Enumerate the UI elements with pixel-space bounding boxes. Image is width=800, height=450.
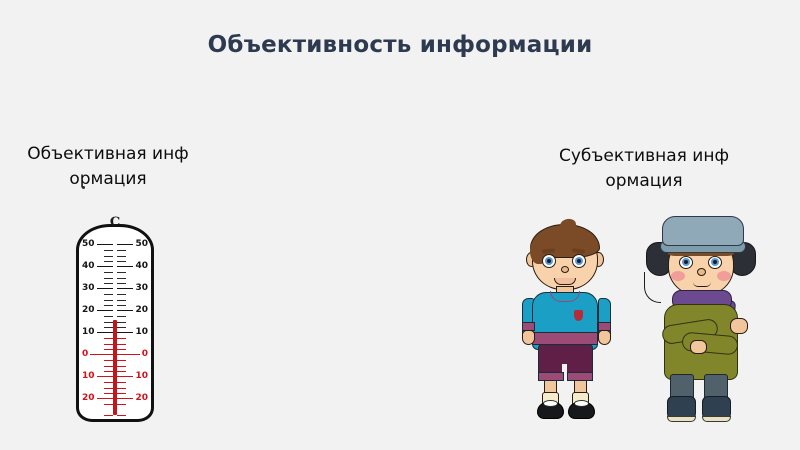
thermometer-tick: 10 (80, 326, 113, 338)
thermometer-minor-ticks (99, 404, 113, 416)
boy-shoelace-left-icon (543, 400, 558, 407)
thermometer-tick: 20 (80, 392, 113, 404)
caption-objective-information: Объективная информация (23, 142, 193, 192)
thermometer-mercury-column (113, 320, 117, 415)
bundled-mouth-icon (693, 282, 711, 287)
tick-line-icon (97, 376, 113, 377)
boy-shorts-hem-left-icon (538, 372, 564, 381)
boy-shoelace-right-icon (574, 400, 589, 407)
thermometer-tick-label: 10 (133, 372, 150, 381)
thermometer-unit-label: C (76, 215, 154, 230)
tick-line-icon (117, 244, 133, 245)
caption-subjective-information: Субъективная информация (556, 144, 732, 194)
thermometer-tick: 50 (117, 238, 150, 250)
bundled-nose-icon (697, 268, 706, 276)
tick-line-icon (90, 354, 113, 355)
boy-hand-right-icon (598, 330, 611, 345)
thermometer-tick-label: 40 (80, 262, 97, 271)
thermometer-tick: 20 (117, 304, 150, 316)
cheek-right-icon (717, 271, 731, 281)
thermometer-tick: 10 (117, 326, 150, 338)
stray-dot-artifact (82, 186, 85, 189)
thermometer-tick: 40 (117, 260, 150, 272)
boy-shorts-hem-right-icon (567, 372, 593, 381)
thermometer-tick-label: 0 (140, 350, 150, 359)
thermometer-illustration: C 50 40 30 20 10 0 10 20 50 40 30 (76, 224, 154, 422)
thermometer-tick: 40 (80, 260, 113, 272)
thermometer-tick-label: 0 (80, 350, 90, 359)
tick-line-icon (117, 354, 140, 355)
bundled-pupil-right-icon (713, 260, 717, 264)
bundled-hand-right-icon (730, 318, 748, 334)
tick-line-icon (97, 310, 113, 311)
thermometer-tick-label: 10 (133, 328, 150, 337)
tick-line-icon (97, 244, 113, 245)
page-title: Объективность информации (0, 32, 800, 58)
thermometer-tick: 0 (117, 348, 150, 360)
thermometer-tick: 20 (80, 304, 113, 316)
tick-line-icon (117, 332, 133, 333)
boot-sole-left-icon (667, 416, 696, 422)
tick-line-icon (117, 288, 133, 289)
thermometer-scale-left: 50 40 30 20 10 0 10 20 (80, 238, 113, 410)
thermometer-tick: 10 (80, 370, 113, 382)
thermometer-tick-label: 20 (80, 306, 97, 315)
boy-nose-icon (561, 266, 569, 273)
thermometer-tick-label: 40 (133, 262, 150, 271)
thermometer-tick-label: 20 (133, 394, 150, 403)
thermometer-tick: 50 (80, 238, 113, 250)
bundled-pupil-left-icon (684, 260, 688, 264)
thermometer-tick-label: 50 (80, 240, 97, 249)
presentation-slide: Объективность информации Объективная инф… (0, 0, 800, 450)
thermometer-tick: 10 (117, 370, 150, 382)
cheek-left-icon (671, 271, 685, 281)
thermometer-tick: 0 (80, 348, 113, 360)
boy-shirt-emblem-icon (574, 310, 583, 321)
boy-pupil-right-icon (577, 259, 581, 263)
thermometer-tick: 20 (117, 392, 150, 404)
thermometer-tick: 30 (117, 282, 150, 294)
boy-hand-left-icon (522, 330, 535, 345)
tick-line-icon (97, 288, 113, 289)
boy-mouth-icon (554, 278, 576, 285)
thermometer-scale-right: 50 40 30 20 10 0 10 20 (117, 238, 150, 410)
thermometer-tick: 30 (80, 282, 113, 294)
thermometer-minor-ticks (117, 404, 131, 416)
thermometer-tick-label: 30 (133, 284, 150, 293)
tick-line-icon (97, 398, 113, 399)
thermometer-tick-label: 10 (80, 372, 97, 381)
tick-line-icon (117, 266, 133, 267)
thermometer-tick-label: 10 (80, 328, 97, 337)
thermometer-tick-label: 20 (80, 394, 97, 403)
hat-string-icon (644, 272, 661, 303)
figure-bundled-child (638, 218, 762, 424)
thermometer-tick-label: 50 (133, 240, 150, 249)
bundled-hand-left-icon (690, 340, 707, 354)
ushanka-hat-icon (662, 216, 744, 246)
tick-line-icon (97, 332, 113, 333)
thermometer-tick-label: 20 (133, 306, 150, 315)
tick-line-icon (117, 398, 133, 399)
boy-pupil-left-icon (547, 259, 551, 263)
tick-line-icon (97, 266, 113, 267)
boot-sole-right-icon (702, 416, 731, 422)
tick-line-icon (117, 310, 133, 311)
thermometer-tick-label: 30 (80, 284, 97, 293)
figure-boy (514, 224, 618, 422)
tick-line-icon (117, 376, 133, 377)
